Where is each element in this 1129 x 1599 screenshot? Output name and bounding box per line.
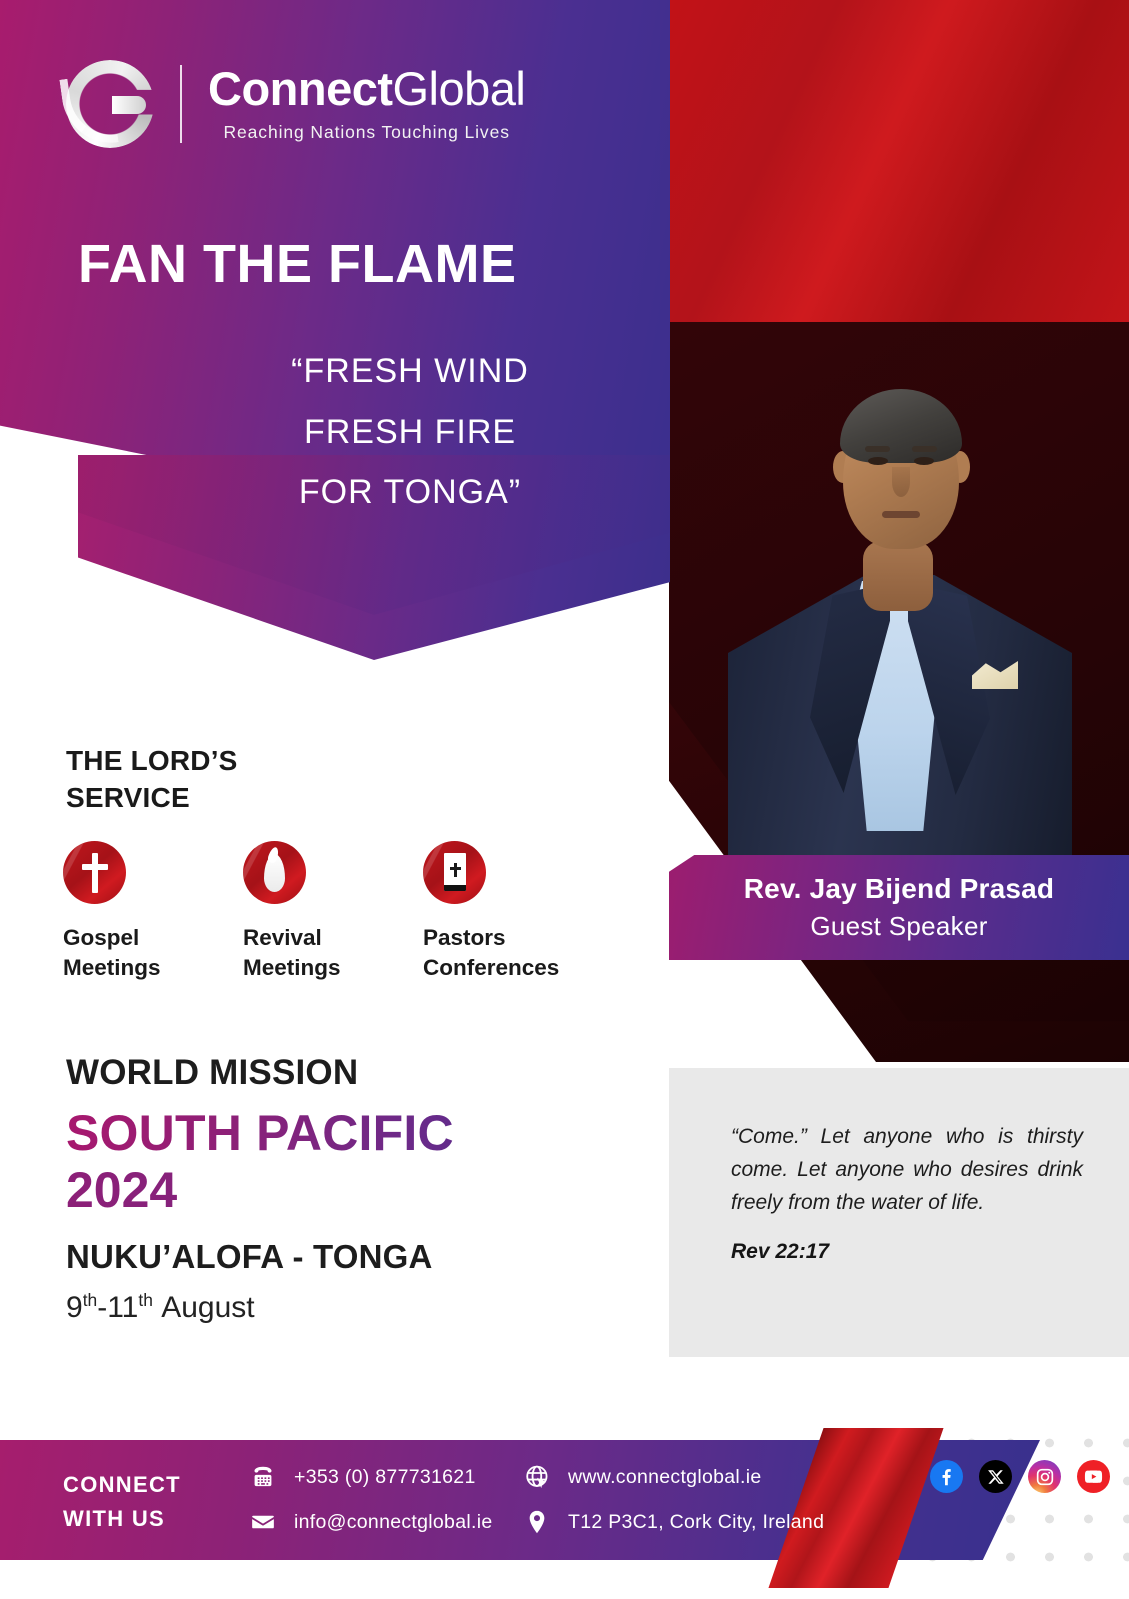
mission-block: WORLD MISSION SOUTH PACIFIC 2024 NUKU’AL… [66, 1053, 626, 1325]
hero-subtitle: “FRESH WIND FRESH FIRE FOR TONGA” [200, 341, 620, 523]
brand-tagline: Reaching Nations Touching Lives [208, 122, 525, 143]
footer-contacts-column-1: +353 (0) 877731621 info@connectglobal.ie [248, 1462, 492, 1537]
mail-icon [248, 1507, 278, 1537]
footer-title: CONNECT WITH US [63, 1468, 181, 1536]
footer-contacts-column-2: www.connectglobal.ie T12 P3C1, Cork City… [522, 1462, 824, 1537]
flame-icon [243, 841, 306, 904]
lords-service-heading: THE LORD’S SERVICE [66, 742, 486, 816]
speaker-nose [892, 467, 910, 497]
hero-subtitle-line-2: FRESH FIRE [200, 402, 620, 463]
footer-title-line-2: WITH US [63, 1506, 165, 1531]
contact-address[interactable]: T12 P3C1, Cork City, Ireland [522, 1507, 824, 1537]
speaker-banner: Rev. Jay Bijend Prasad Guest Speaker [669, 855, 1129, 960]
speaker-eye-left [868, 457, 888, 465]
bible-icon-cross-vertical [454, 863, 457, 877]
location-pin-icon [522, 1507, 552, 1537]
bible-icon [423, 841, 486, 904]
lords-service-items: Gospel Meetings Revival Meetings Pastors… [63, 841, 623, 983]
hero-subtitle-line-3: FOR TONGA” [200, 462, 620, 523]
hero-subtitle-line-1: “FRESH WIND [200, 341, 620, 402]
service-item-pastors-conferences: Pastors Conferences [423, 841, 603, 983]
lords-service-heading-line-1: THE LORD’S [66, 745, 238, 776]
scripture-reference: Rev 22:17 [731, 1240, 1083, 1264]
social-links [930, 1460, 1110, 1493]
phone-icon [248, 1462, 278, 1492]
scripture-box: “Come.” Let anyone who is thirsty come. … [669, 1068, 1129, 1357]
date-day-from-suffix: th [83, 1290, 98, 1310]
service-item-gospel-meetings: Gospel Meetings [63, 841, 243, 983]
speaker-portrait [700, 345, 1100, 875]
service-item-label: Gospel Meetings [63, 923, 243, 983]
bible-icon-cross-horizontal [450, 867, 461, 870]
service-label-line-1: Revival [243, 925, 322, 950]
speaker-name: Rev. Jay Bijend Prasad [744, 873, 1054, 905]
contact-email[interactable]: info@connectglobal.ie [248, 1507, 492, 1537]
cross-icon-vertical [92, 853, 98, 893]
speaker-mouth [882, 511, 920, 518]
date-separator: - [97, 1291, 107, 1324]
contact-email-value: info@connectglobal.ie [294, 1511, 492, 1534]
facebook-icon[interactable] [930, 1460, 963, 1493]
poster-canvas: ConnectGlobal Reaching Nations Touching … [0, 0, 1129, 1599]
tonga-flag [669, 0, 1129, 325]
brand-name-bold: Connect [208, 62, 393, 115]
logo-divider [180, 65, 182, 143]
date-month: August [161, 1291, 254, 1324]
contact-website-value: www.connectglobal.ie [568, 1466, 762, 1489]
flame-icon-body [264, 854, 285, 892]
speaker-hair [840, 389, 962, 463]
speaker-eyebrow-right [912, 446, 937, 452]
lords-service-heading-text: THE LORD’S SERVICE [66, 742, 486, 816]
service-label-line-2: Meetings [243, 955, 341, 980]
globe-icon [522, 1462, 552, 1492]
speaker-neck [863, 541, 933, 611]
logo-swoosh [59, 73, 118, 149]
mission-date: 9th-11th August [66, 1290, 626, 1325]
service-item-label: Revival Meetings [243, 923, 423, 983]
mission-headline: SOUTH PACIFIC [66, 1106, 626, 1161]
brand-wordmark: ConnectGlobal Reaching Nations Touching … [208, 65, 525, 143]
date-day-from: 9 [66, 1291, 83, 1324]
speaker-eye-right [914, 457, 934, 465]
date-day-to: 11 [107, 1291, 138, 1324]
cross-icon [63, 841, 126, 904]
mission-year: 2024 [66, 1163, 626, 1218]
logo-crossbar [112, 96, 146, 114]
contact-phone[interactable]: +353 (0) 877731621 [248, 1462, 492, 1492]
scripture-text: “Come.” Let anyone who is thirsty come. … [731, 1120, 1083, 1220]
service-item-revival-meetings: Revival Meetings [243, 841, 423, 983]
brand-logo: ConnectGlobal Reaching Nations Touching … [62, 50, 622, 158]
contact-phone-value: +353 (0) 877731621 [294, 1466, 476, 1489]
contact-website[interactable]: www.connectglobal.ie [522, 1462, 824, 1492]
x-twitter-icon[interactable] [979, 1460, 1012, 1493]
service-item-label: Pastors Conferences [423, 923, 603, 983]
youtube-icon[interactable] [1077, 1460, 1110, 1493]
speaker-role: Guest Speaker [810, 911, 987, 942]
mission-city: NUKU’ALOFA - TONGA [66, 1238, 626, 1276]
instagram-icon[interactable] [1028, 1460, 1061, 1493]
cross-icon-horizontal [82, 864, 108, 870]
contact-address-value: T12 P3C1, Cork City, Ireland [568, 1511, 824, 1534]
service-label-line-2: Conferences [423, 955, 559, 980]
speaker-eyebrow-left [865, 446, 890, 452]
mission-kicker: WORLD MISSION [66, 1053, 626, 1093]
brand-name-light: Global [393, 62, 526, 115]
footer-title-line-1: CONNECT [63, 1472, 181, 1497]
hero-title: FAN THE FLAME [78, 233, 516, 295]
connect-global-g-logo-icon [62, 56, 158, 152]
service-label-line-1: Pastors [423, 925, 506, 950]
date-day-to-suffix: th [138, 1290, 153, 1310]
brand-name: ConnectGlobal [208, 65, 525, 113]
lords-service-heading-line-2: SERVICE [66, 782, 190, 813]
service-label-line-1: Gospel [63, 925, 139, 950]
service-label-line-2: Meetings [63, 955, 161, 980]
